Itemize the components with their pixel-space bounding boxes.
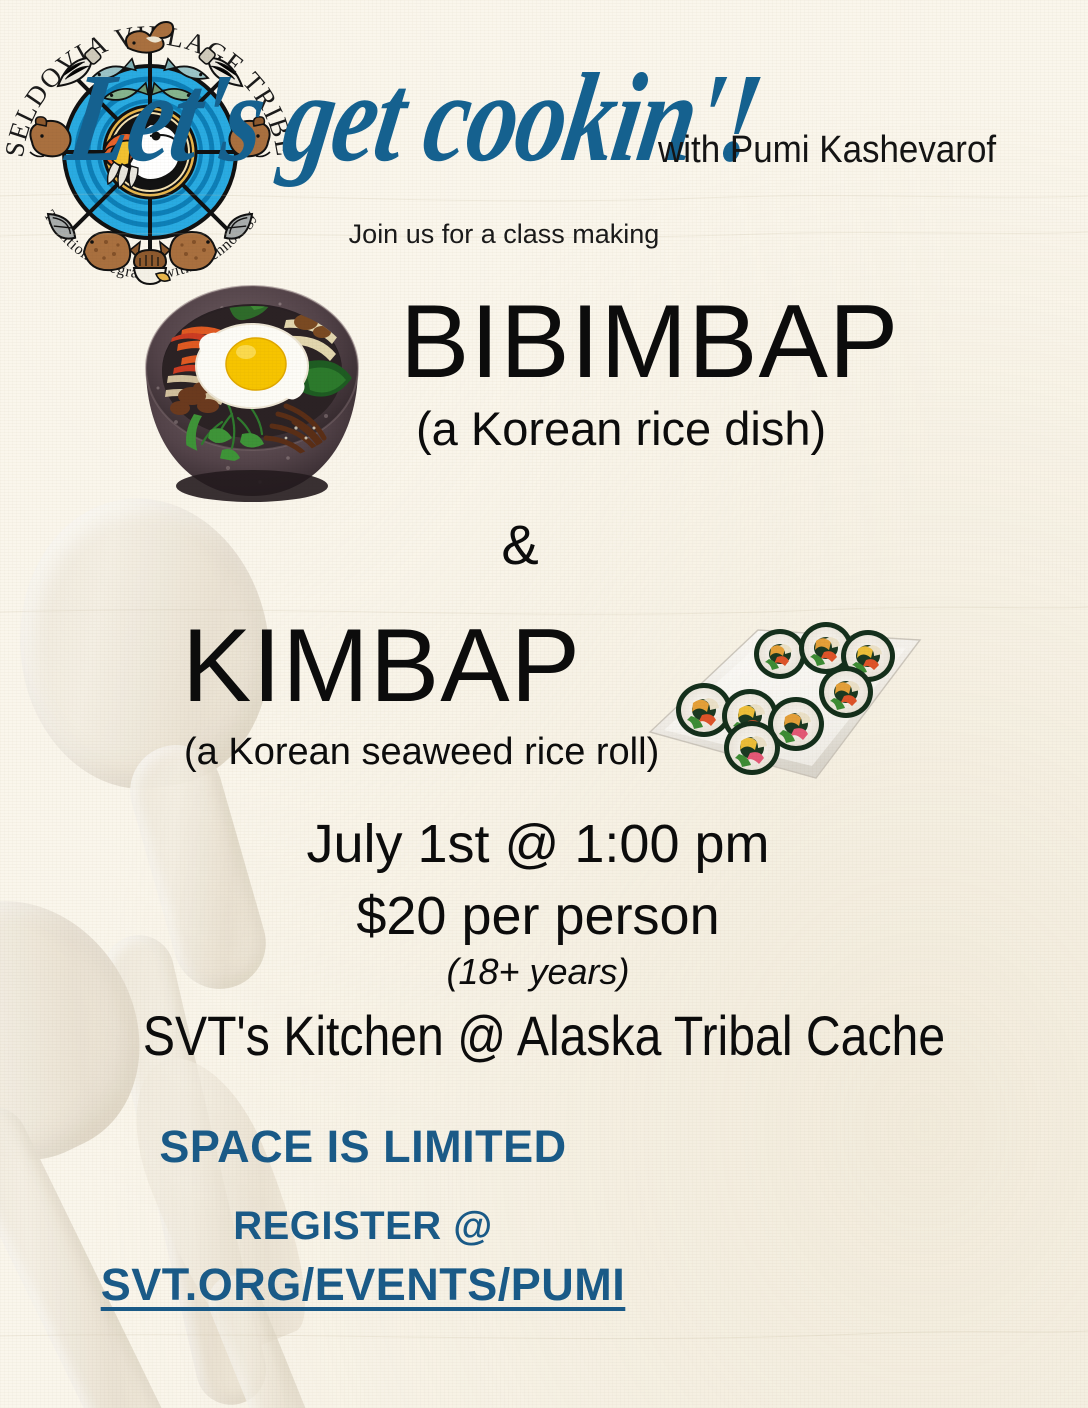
space-limited-notice: SPACE IS LIMITED <box>88 1124 638 1169</box>
registration-url-link[interactable]: SVT.ORG/EVENTS/PUMI <box>88 1262 638 1307</box>
registration-url-text[interactable]: SVT.ORG/EVENTS/PUMI <box>101 1259 626 1310</box>
dish-connector-ampersand: & <box>0 512 1064 577</box>
event-price: $20 per person <box>0 889 1082 943</box>
event-venue: SVT's Kitchen @ Alaska Tribal Cache <box>76 1008 1012 1064</box>
event-age-restriction: (18+ years) <box>0 954 1082 990</box>
dish-description-kimbap: (a Korean seaweed rice roll) <box>184 733 659 771</box>
dish-title-kimbap: KIMBAP <box>182 614 581 718</box>
class-intro-line: Join us for a class making <box>0 219 1048 250</box>
event-datetime: July 1st @ 1:00 pm <box>0 817 1082 871</box>
register-cta-label: REGISTER @ <box>88 1206 638 1246</box>
dish-title-bibimbap: BIBIMBAP <box>400 290 899 394</box>
instructor-credit: with Pumi Kashevarof <box>658 131 996 169</box>
dish-description-bibimbap: (a Korean rice dish) <box>416 405 826 452</box>
flyer-poster: SELDOVIA VILLAGE TRIBE Tradition Integra… <box>0 0 1088 1408</box>
